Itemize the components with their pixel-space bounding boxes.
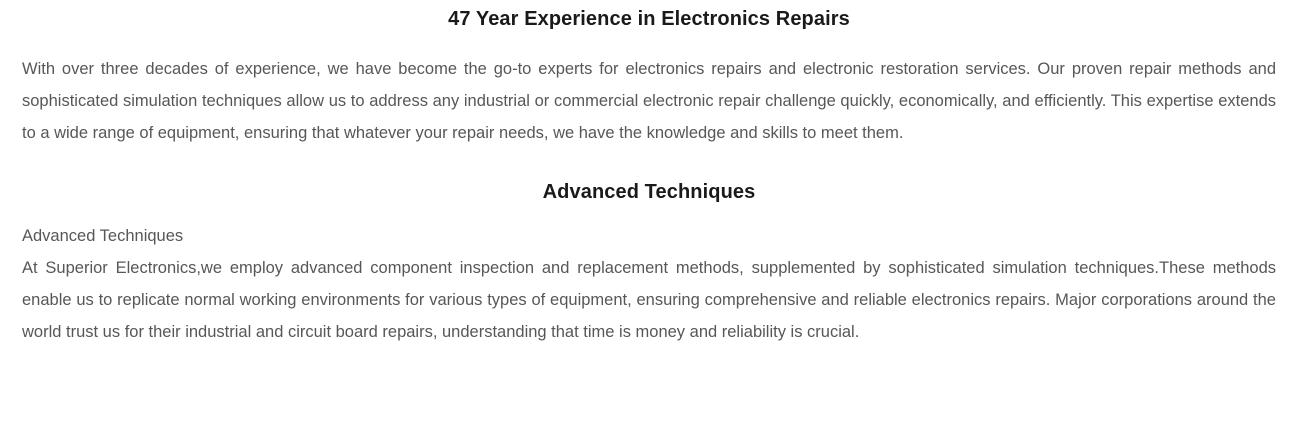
heading-spacer: [14, 205, 1284, 220]
page-title: 47 Year Experience in Electronics Repair…: [14, 6, 1284, 32]
section-spacer: [14, 149, 1284, 179]
intro-paragraph: With over three decades of experience, w…: [14, 53, 1284, 149]
article-page: 47 Year Experience in Electronics Repair…: [0, 0, 1298, 435]
section-heading-advanced-techniques: Advanced Techniques: [14, 179, 1284, 205]
techniques-paragraph: At Superior Electronics,we employ advanc…: [14, 252, 1284, 348]
subheading-label: Advanced Techniques: [14, 220, 1284, 252]
